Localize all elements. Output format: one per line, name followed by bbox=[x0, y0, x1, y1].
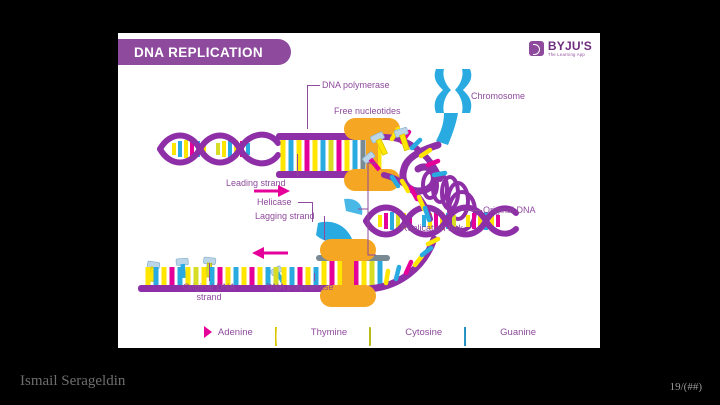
legend-item-thymine: Thymine bbox=[275, 327, 347, 338]
leading-strand-helix bbox=[160, 135, 278, 164]
legend-swatch-guanine bbox=[464, 328, 494, 337]
leader-dna-polymerase-bottom-v bbox=[314, 273, 315, 281]
legend-swatch-thymine bbox=[275, 328, 305, 337]
legend-item-guanine: Guanine bbox=[464, 327, 536, 338]
legend-swatch-cytosine bbox=[369, 328, 399, 337]
label-dna-polymerase-bottom: DNA polymerase bbox=[266, 282, 334, 292]
label-dna-polymerase-top: DNA polymerase bbox=[322, 80, 390, 90]
legend-item-adenine: Adenine bbox=[182, 327, 253, 338]
label-original-dna: Original DNA bbox=[483, 205, 536, 215]
leader-dna-polymerase-top-h bbox=[307, 85, 320, 86]
page-number: 19/(##) bbox=[670, 381, 702, 393]
label-free-nucleotides: Free nucleotides bbox=[334, 106, 401, 116]
label-original-dna-strand-line2: strand bbox=[196, 292, 221, 302]
label-helicase: Helicase bbox=[257, 197, 292, 207]
legend-item-cytosine: Cytosine bbox=[369, 327, 442, 338]
label-leading-strand: Leading strand bbox=[226, 178, 286, 188]
chromosome-shape bbox=[435, 69, 472, 145]
label-lagging-strand: Lagging strand bbox=[255, 211, 315, 221]
leader-dna-polymerase-top-v bbox=[307, 85, 308, 129]
leader-leading-strand-v bbox=[297, 154, 298, 176]
diagram-card: DNA REPLICATION BYJU'S The Learning App bbox=[118, 33, 600, 348]
leader-lagging-strand-v bbox=[324, 216, 325, 240]
presentation-slide: DNA REPLICATION BYJU'S The Learning App bbox=[0, 0, 720, 405]
base-legend: Adenine Thymine Cytosine Guanine bbox=[118, 327, 600, 338]
label-chromosome: Chromosome bbox=[471, 91, 525, 101]
label-original-dna-strand-line1: Original DNA bbox=[183, 282, 236, 292]
leader-original-dna-strand-v bbox=[209, 263, 210, 281]
legend-label-adenine: Adenine bbox=[218, 327, 253, 338]
author-name: Ismail Serageldin bbox=[20, 373, 125, 390]
label-replication-fork: Replication fork bbox=[401, 223, 463, 233]
lagging-strand-direction-arrow bbox=[252, 247, 288, 259]
legend-label-thymine: Thymine bbox=[311, 327, 347, 338]
label-original-dna-strand: Original DNA strand bbox=[164, 282, 254, 302]
helicase-shape bbox=[316, 199, 362, 243]
legend-swatch-adenine bbox=[182, 328, 212, 337]
legend-label-cytosine: Cytosine bbox=[405, 327, 442, 338]
leader-helicase-h bbox=[298, 202, 312, 203]
legend-label-guanine: Guanine bbox=[500, 327, 536, 338]
leader-original-dna-h bbox=[462, 210, 482, 211]
